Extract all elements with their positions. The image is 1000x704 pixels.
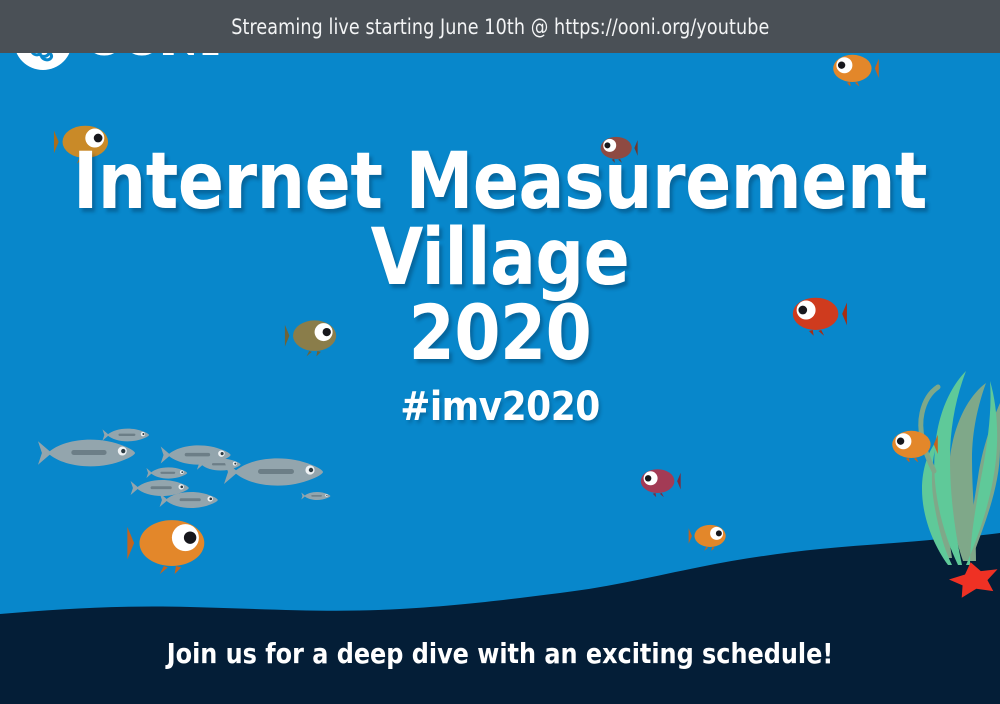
bottom-caption: Join us for a deep dive with an exciting… xyxy=(25,637,975,670)
seabed-and-flora xyxy=(0,53,1000,704)
seabed-shape xyxy=(0,533,1000,704)
announcement-text: Streaming live starting June 10th @ http… xyxy=(231,15,769,39)
imv2020-promo-banner: Streaming live starting June 10th @ http… xyxy=(0,0,1000,704)
ocean-background xyxy=(0,53,1000,704)
announcement-bar: Streaming live starting June 10th @ http… xyxy=(0,0,1000,53)
